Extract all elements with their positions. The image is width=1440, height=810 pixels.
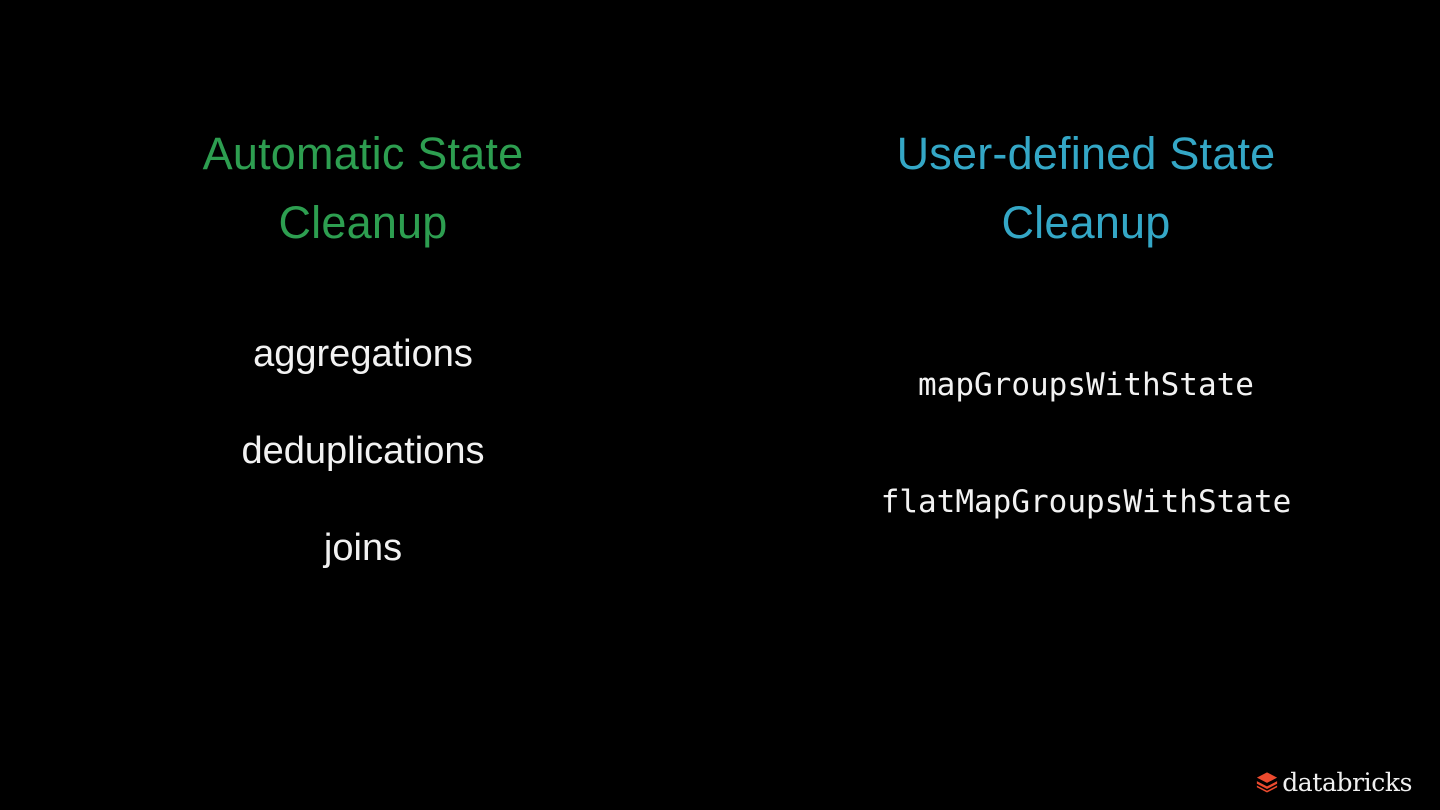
list-item-flat-map-groups-with-state: flatMapGroupsWithState bbox=[836, 480, 1336, 524]
list-item-joins: joins bbox=[113, 524, 613, 572]
column-title-user-defined-state-cleanup: User-defined State Cleanup bbox=[836, 119, 1336, 257]
slide-canvas: Automatic State Cleanup aggregations ded… bbox=[0, 0, 1440, 810]
column-automatic-state-cleanup: Automatic State Cleanup aggregations ded… bbox=[113, 0, 613, 810]
list-item-aggregations: aggregations bbox=[113, 330, 613, 378]
column-title-automatic-state-cleanup: Automatic State Cleanup bbox=[113, 119, 613, 257]
list-item-deduplications: deduplications bbox=[113, 427, 613, 475]
list-item-map-groups-with-state: mapGroupsWithState bbox=[836, 363, 1336, 407]
databricks-logo-icon bbox=[1256, 771, 1278, 793]
user-defined-cleanup-item-list: mapGroupsWithState flatMapGroupsWithStat… bbox=[836, 363, 1336, 524]
brand-name-text: databricks bbox=[1282, 770, 1412, 795]
column-user-defined-state-cleanup: User-defined State Cleanup mapGroupsWith… bbox=[836, 0, 1336, 810]
brand-logo: databricks bbox=[1256, 767, 1412, 797]
automatic-cleanup-item-list: aggregations deduplications joins bbox=[113, 330, 613, 572]
